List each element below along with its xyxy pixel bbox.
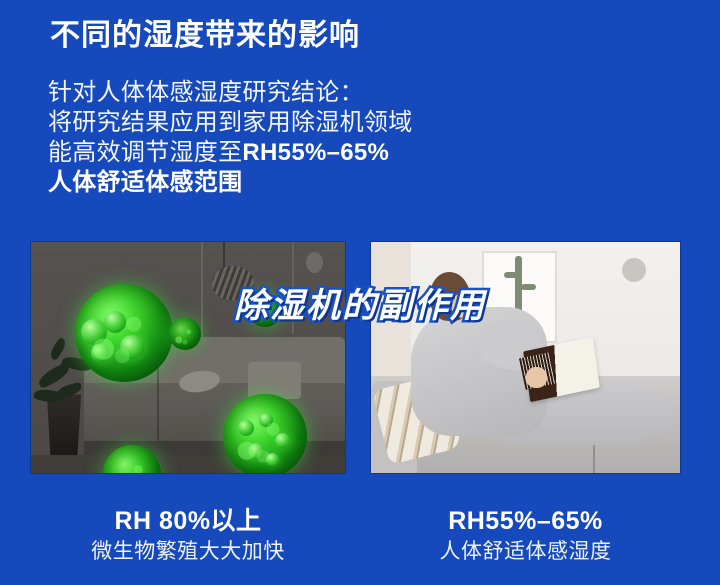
intro-line-4: 人体舒适体感范围 bbox=[48, 168, 478, 198]
germ-sphere-icon bbox=[223, 394, 307, 473]
person-hand bbox=[526, 367, 548, 388]
photo-row bbox=[0, 242, 720, 474]
caption-left-subtitle: 微生物繁殖大大加快 bbox=[31, 537, 345, 567]
wall-speaker-icon bbox=[306, 252, 323, 273]
caption-left: RH 80%以上 微生物繁殖大大加快 bbox=[31, 505, 345, 567]
dark-room-scene bbox=[31, 242, 345, 473]
intro-humidity-range: RH55%–65% bbox=[242, 139, 389, 166]
photo-left-humid-room bbox=[31, 242, 345, 473]
germ-node-icon bbox=[91, 344, 109, 362]
intro-line-2: 将研究结果应用到家用除湿机领域 bbox=[48, 108, 478, 138]
plant-pot bbox=[44, 394, 85, 463]
germ-node-icon bbox=[259, 413, 273, 427]
dark-sofa-cushion bbox=[248, 362, 301, 399]
intro-line-1: 针对人体体感湿度研究结论： bbox=[48, 78, 478, 108]
germ-node-icon bbox=[275, 433, 290, 448]
photo-right-comfort-room bbox=[371, 242, 680, 473]
infographic-page: 不同的湿度带来的影响 针对人体体感湿度研究结论： 将研究结果应用到家用除湿机领域… bbox=[0, 0, 720, 585]
lamp-cord bbox=[223, 242, 225, 268]
light-room-scene bbox=[371, 242, 680, 473]
germ-node-icon bbox=[120, 335, 144, 359]
germ-node-icon bbox=[248, 443, 265, 460]
caption-right: RH55%–65% 人体舒适体感湿度 bbox=[371, 505, 680, 567]
germ-node-icon bbox=[238, 420, 254, 436]
intro-line-3: 能高效调节湿度至RH55%–65% bbox=[48, 138, 478, 168]
page-title: 不同的湿度带来的影响 bbox=[50, 16, 360, 56]
germ-node-icon bbox=[266, 453, 279, 466]
caption-left-title: RH 80%以上 bbox=[31, 505, 345, 537]
caption-right-subtitle: 人体舒适体感湿度 bbox=[371, 537, 680, 567]
intro-line-3-prefix: 能高效调节湿度至 bbox=[48, 139, 242, 166]
overlay-headline: 除湿机的副作用 bbox=[0, 278, 720, 327]
caption-right-title: RH55%–65% bbox=[371, 505, 680, 537]
intro-paragraph: 针对人体体感湿度研究结论： 将研究结果应用到家用除湿机领域 能高效调节湿度至RH… bbox=[48, 78, 478, 198]
caption-row: RH 80%以上 微生物繁殖大大加快 RH55%–65% 人体舒适体感湿度 bbox=[0, 505, 720, 585]
